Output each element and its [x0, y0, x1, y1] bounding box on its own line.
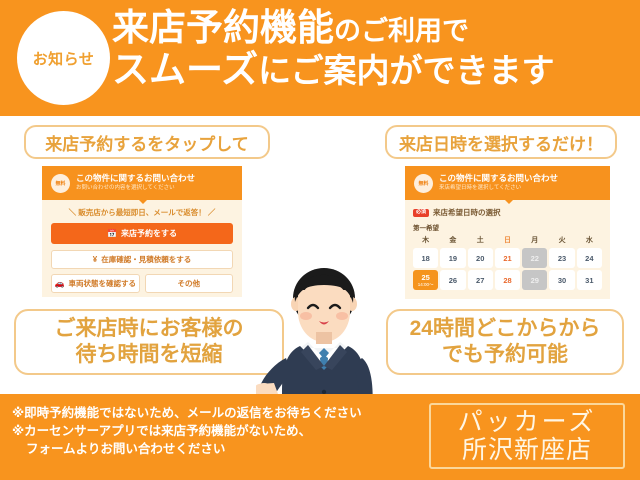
calendar-day-number: 18	[421, 254, 429, 263]
calendar-day-number: 25	[421, 273, 429, 282]
store-logo-line-1: パッカーズ	[458, 408, 597, 436]
calendar-day-cell[interactable]: 19	[440, 248, 465, 268]
calendar-day-cell[interactable]: 26	[440, 270, 465, 290]
right-step-pill: 来店日時を選択するだけ！	[385, 125, 617, 159]
disclaimer-text: ※即時予約機能ではないため、メールの返信をお待ちください ※カーセンサーアプリで…	[12, 405, 412, 458]
header-headline: 来店予約機能のご利用で スムーズにご案内ができます	[112, 8, 632, 89]
calendar-day-cell[interactable]: 20	[468, 248, 493, 268]
calendar-weekday-金: 金	[440, 235, 465, 246]
header-notch-icon	[138, 199, 148, 204]
calendar-weekday-土: 土	[468, 235, 493, 246]
calendar-icon: 📅	[107, 230, 117, 238]
calendar-grid[interactable]: 木金土日月火水181920212223242514:00〜26272829303…	[413, 235, 602, 290]
date-picker-mockup: 無料 この物件に関するお問い合わせ 来店希望日時を選択してください 必須 来店希…	[405, 166, 610, 299]
disclaimer-line-3: フォームよりお問い合わせください	[12, 441, 412, 459]
calendar-day-number: 31	[585, 276, 593, 285]
other-button[interactable]: その他	[145, 274, 234, 293]
preference-label: 第一希望	[413, 222, 602, 232]
store-logo: パッカーズ 所沢新座店	[429, 403, 625, 469]
benefit-box-wait-time: ご来店時にお客様の 待ち時間を短縮	[14, 309, 284, 375]
calendar-day-cell[interactable]: 18	[413, 248, 438, 268]
calendar-day-time: 14:00〜	[418, 283, 434, 288]
left-step-pill: 来店予約するをタップして	[24, 125, 270, 159]
calendar-section-title: 必須 来店希望日時の選択	[413, 207, 602, 218]
benefit-box-24h: 24時間どこからから でも予約可能	[386, 309, 624, 375]
calendar-day-number: 22	[531, 254, 539, 263]
calendar-day-cell[interactable]: 31	[577, 270, 602, 290]
headline-line-1-tail: のご利用で	[334, 16, 469, 46]
calendar-day-cell[interactable]: 27	[468, 270, 493, 290]
calendar-day-number: 29	[531, 276, 539, 285]
required-badge: 必須	[413, 209, 429, 217]
headline-line-2: スムーズにご案内ができます	[112, 50, 632, 89]
inquiry-form-title: この物件に関するお問い合わせ	[76, 174, 195, 183]
benefit-left-line-2: 待ち時間を短縮	[76, 342, 223, 368]
calendar-weekday-木: 木	[413, 235, 438, 246]
header-banner: お知らせ 来店予約機能のご利用で スムーズにご案内ができます	[0, 0, 640, 116]
notice-badge-label: お知らせ	[33, 48, 95, 69]
benefit-right-line-1: 24時間どこからから	[410, 316, 601, 342]
notice-badge: お知らせ	[17, 11, 110, 105]
calendar-section-title-label: 来店希望日時の選択	[433, 207, 501, 218]
disclaimer-line-1: ※即時予約機能ではないため、メールの返信をお待ちください	[12, 405, 412, 423]
free-badge: 無料	[51, 174, 70, 193]
calendar: 必須 来店希望日時の選択 第一希望 木金土日月火水181920212223242…	[405, 200, 610, 290]
calendar-day-number: 24	[585, 254, 593, 263]
other-button-label: その他	[178, 278, 201, 289]
calendar-weekday-水: 水	[577, 235, 602, 246]
date-picker-title: この物件に関するお問い合わせ	[439, 174, 558, 183]
calendar-day-cell[interactable]: 24	[577, 248, 602, 268]
check-condition-button[interactable]: 🚗 車両状態を確認する	[51, 274, 140, 293]
calendar-day-number: 27	[476, 276, 484, 285]
calendar-day-cell[interactable]: 30	[549, 270, 574, 290]
calendar-weekday-火: 火	[549, 235, 574, 246]
calendar-day-cell: 29	[522, 270, 547, 290]
calendar-day-number: 30	[558, 276, 566, 285]
store-logo-line-2: 所沢新座店	[462, 436, 592, 464]
calendar-day-number: 21	[503, 254, 511, 263]
reserve-visit-button-label: 来店予約をする	[121, 228, 177, 239]
headline-line-2-main: スムーズ	[112, 49, 258, 90]
headline-line-1: 来店予約機能のご利用で	[112, 8, 632, 47]
content-area: 来店予約するをタップして 来店日時を選択するだけ！ 無料 この物件に関するお問い…	[0, 116, 640, 394]
disclaimer-line-2: ※カーセンサーアプリでは来店予約機能がないため、	[12, 423, 412, 441]
date-picker-subtitle: 来店希望日時を選択してください	[439, 185, 558, 192]
calendar-day-cell[interactable]: 23	[549, 248, 574, 268]
calendar-day-number: 23	[558, 254, 566, 263]
footer-banner: ※即時予約機能ではないため、メールの返信をお待ちください ※カーセンサーアプリで…	[0, 394, 640, 480]
secondary-button-row: 🚗 車両状態を確認する その他	[51, 274, 233, 293]
reserve-visit-button[interactable]: 📅 来店予約をする	[51, 223, 233, 244]
benefit-right-line-2: でも予約可能	[442, 342, 568, 368]
headline-line-1-main: 来店予約機能	[112, 7, 334, 48]
free-badge-label: 無料	[418, 180, 428, 187]
free-badge: 無料	[414, 174, 433, 193]
headline-line-2-tail: にご案内ができます	[258, 52, 554, 89]
car-icon: 🚗	[55, 280, 65, 288]
right-step-pill-label: 来店日時を選択するだけ！	[399, 130, 603, 155]
calendar-weekday-日: 日	[495, 235, 520, 246]
inquiry-form-header: 無料 この物件に関するお問い合わせ お問い合わせの内容を選択してください	[42, 166, 242, 200]
inquiry-form-mockup: 無料 この物件に関するお問い合わせ お問い合わせの内容を選択してください ＼ 販…	[42, 166, 242, 297]
calendar-day-cell[interactable]: 21	[495, 248, 520, 268]
calendar-day-cell[interactable]: 28	[495, 270, 520, 290]
inquiry-form-subtitle: お問い合わせの内容を選択してください	[76, 185, 195, 192]
date-picker-header: 無料 この物件に関するお問い合わせ 来店希望日時を選択してください	[405, 166, 610, 200]
calendar-day-cell[interactable]: 2514:00〜	[413, 270, 438, 290]
stock-quote-button[interactable]: ¥ 在庫確認・見積依頼をする	[51, 250, 233, 269]
calendar-weekday-月: 月	[522, 235, 547, 246]
check-condition-button-label: 車両状態を確認する	[68, 278, 136, 289]
free-badge-label: 無料	[55, 180, 65, 187]
calendar-day-number: 20	[476, 254, 484, 263]
calendar-day-cell: 22	[522, 248, 547, 268]
benefit-left-line-1: ご来店時にお客様の	[55, 316, 244, 342]
calendar-day-number: 26	[449, 276, 457, 285]
yen-icon: ¥	[93, 256, 97, 264]
calendar-day-number: 28	[503, 276, 511, 285]
calendar-day-number: 19	[449, 254, 457, 263]
header-notch-icon	[504, 199, 514, 204]
stock-quote-button-label: 在庫確認・見積依頼をする	[101, 254, 191, 265]
left-step-pill-label: 来店予約するをタップして	[45, 130, 249, 155]
